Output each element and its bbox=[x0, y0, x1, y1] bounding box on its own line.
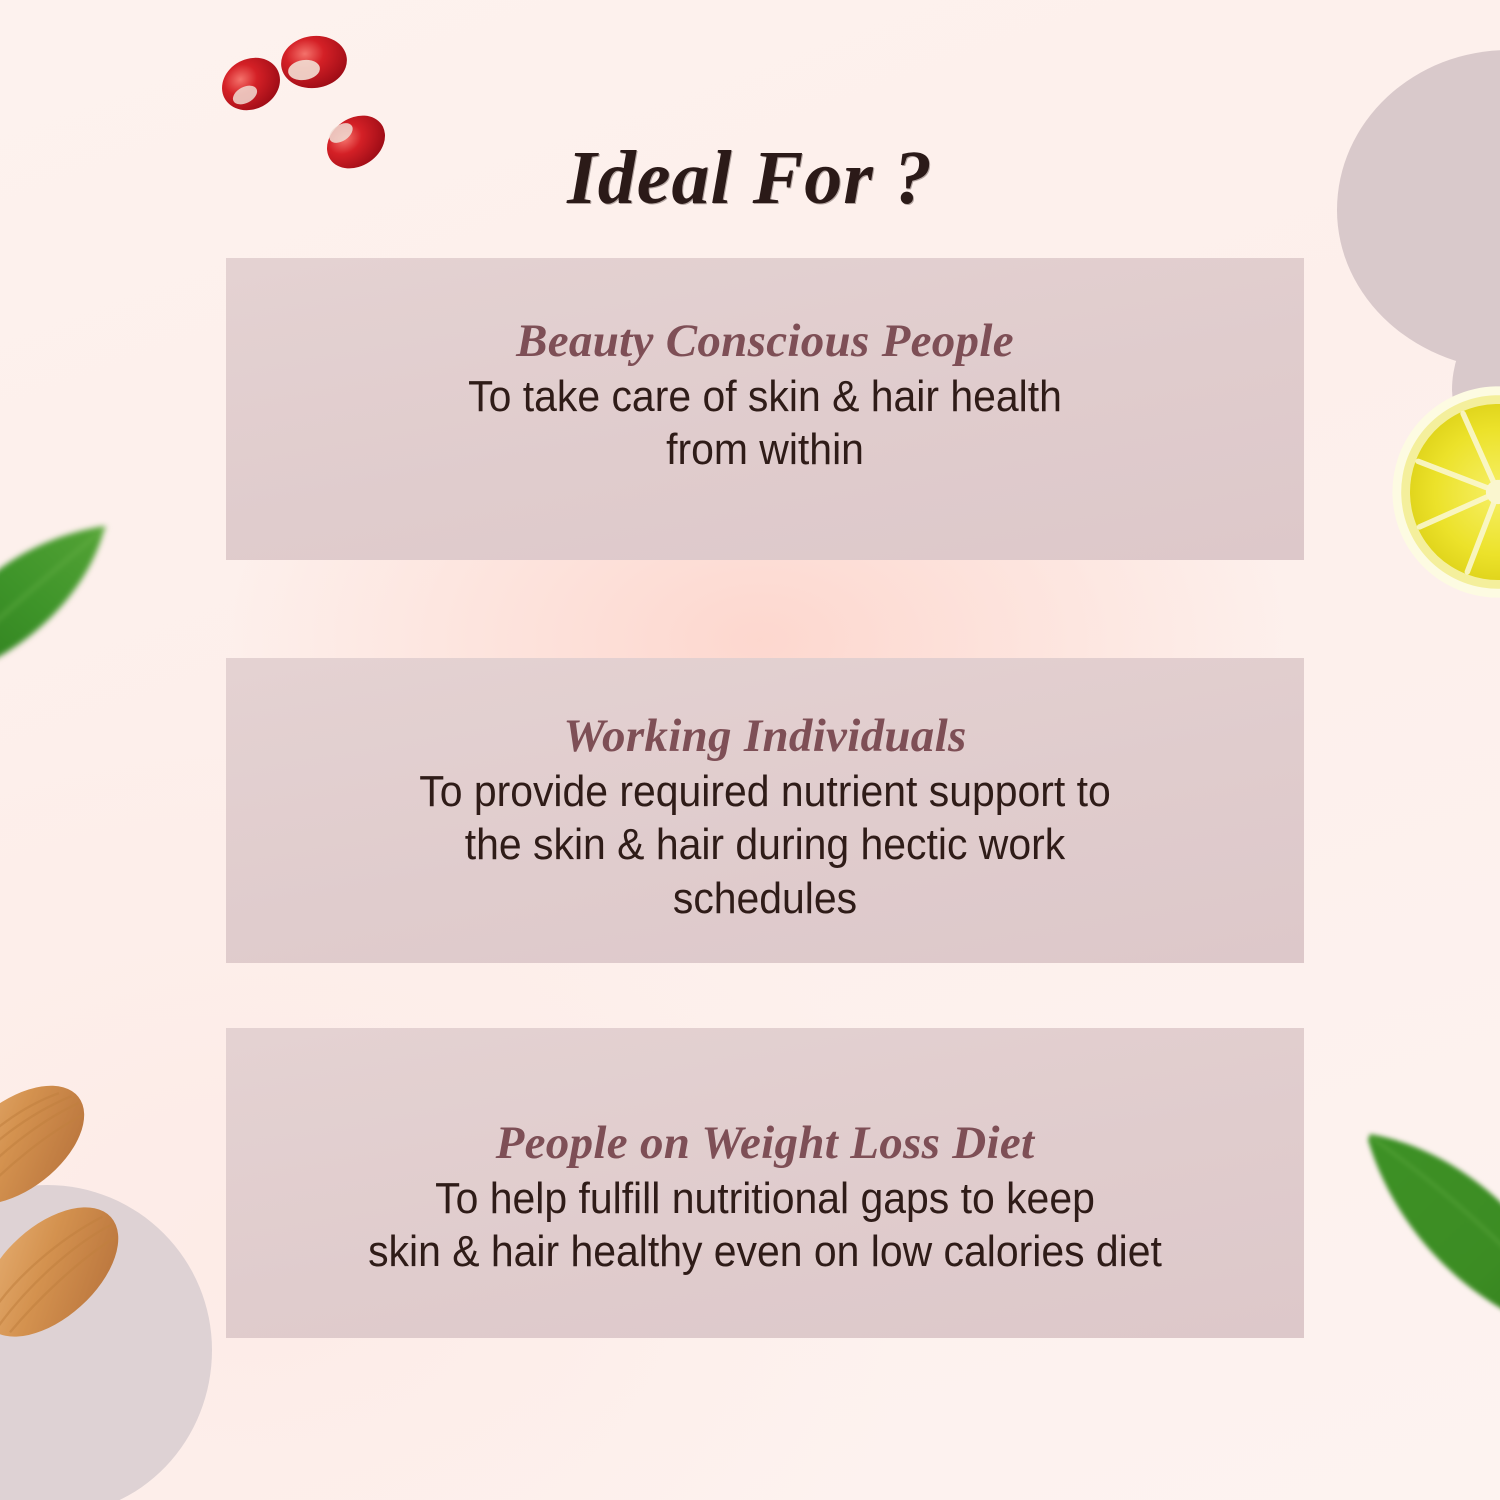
leaf-icon-right bbox=[1362, 1128, 1500, 1358]
ideal-for-card: People on Weight Loss Diet To help fulfi… bbox=[226, 1028, 1304, 1338]
almond-icon-group bbox=[0, 1040, 212, 1340]
lemon-slice-icon bbox=[1353, 347, 1500, 637]
pomegranate-seed-icon bbox=[216, 48, 289, 120]
page-title: Ideal For ? bbox=[0, 135, 1500, 222]
card-body-text: To take care of skin & hair health from … bbox=[288, 370, 1242, 476]
leaf-icon-left bbox=[0, 520, 140, 690]
almond-icon bbox=[0, 1183, 142, 1340]
almond-icon bbox=[0, 1062, 106, 1227]
card-heading: Beauty Conscious People bbox=[252, 317, 1278, 366]
poster-canvas: Ideal For ? Beauty Conscious People To t… bbox=[0, 0, 1500, 1500]
ideal-for-card: Beauty Conscious People To take care of … bbox=[226, 258, 1304, 560]
card-body-text: To help fulfill nutritional gaps to keep… bbox=[288, 1172, 1242, 1278]
ideal-for-card: Working Individuals To provide required … bbox=[226, 658, 1304, 963]
card-body-text: To provide required nutrient support to … bbox=[288, 765, 1242, 925]
card-heading: Working Individuals bbox=[252, 712, 1278, 761]
pomegranate-seed-icon bbox=[278, 32, 351, 92]
card-heading: People on Weight Loss Diet bbox=[252, 1119, 1278, 1168]
